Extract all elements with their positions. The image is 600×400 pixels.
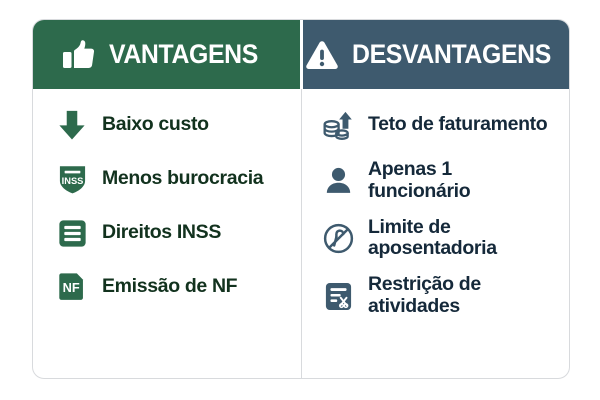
- list-item-label: Apenas 1 funcionário: [368, 159, 559, 203]
- infographic-stage: VANTAGENS DESVANTAGENS: [0, 0, 600, 400]
- no-retirement-icon: [321, 220, 355, 256]
- disadvantages-header: DESVANTAGENS: [303, 20, 570, 89]
- list-item: Baixo custo: [55, 105, 291, 145]
- comparison-card: VANTAGENS DESVANTAGENS: [32, 19, 570, 379]
- list-item: Direitos INSS: [55, 213, 291, 253]
- card-header-row: VANTAGENS DESVANTAGENS: [33, 20, 569, 89]
- list-item: INSS Menos burocracia: [55, 159, 291, 199]
- disadvantages-title: DESVANTAGENS: [352, 41, 551, 68]
- list-item: Restrição de atividades: [321, 274, 559, 318]
- coins-up-arrow-icon: [321, 107, 355, 143]
- list-item-label: Teto de faturamento: [368, 114, 547, 136]
- list-item: Apenas 1 funcionário: [321, 159, 559, 203]
- down-arrow-icon: [55, 107, 89, 143]
- svg-text:INSS: INSS: [61, 176, 83, 186]
- thumbs-up-icon: [61, 37, 97, 73]
- list-item: Teto de faturamento: [321, 105, 559, 145]
- list-item-label: Limite de aposentadoria: [368, 217, 559, 261]
- restricted-document-icon: [321, 278, 355, 314]
- warning-triangle-icon: [304, 37, 340, 73]
- list-lines-icon: [55, 215, 89, 251]
- list-item: Limite de aposentadoria: [321, 217, 559, 261]
- single-person-icon: [321, 163, 355, 199]
- list-item-label: Baixo custo: [102, 114, 209, 136]
- card-body-row: Baixo custo INSS Menos burocracia: [33, 89, 569, 378]
- nf-document-icon: NF: [55, 269, 89, 305]
- advantages-title: VANTAGENS: [109, 41, 258, 68]
- list-item-label: Emissão de NF: [102, 276, 237, 298]
- disadvantages-column: Teto de faturamento Apenas 1 funcionário: [301, 89, 569, 378]
- svg-text:NF: NF: [63, 280, 80, 295]
- list-item-label: Direitos INSS: [102, 222, 221, 244]
- list-item-label: Restrição de atividades: [368, 274, 559, 318]
- advantages-header: VANTAGENS: [33, 20, 300, 89]
- advantages-column: Baixo custo INSS Menos burocracia: [33, 89, 301, 378]
- column-divider: [301, 89, 302, 378]
- list-item-label: Menos burocracia: [102, 168, 263, 190]
- inss-shield-icon: INSS: [55, 161, 89, 197]
- list-item: NF Emissão de NF: [55, 267, 291, 307]
